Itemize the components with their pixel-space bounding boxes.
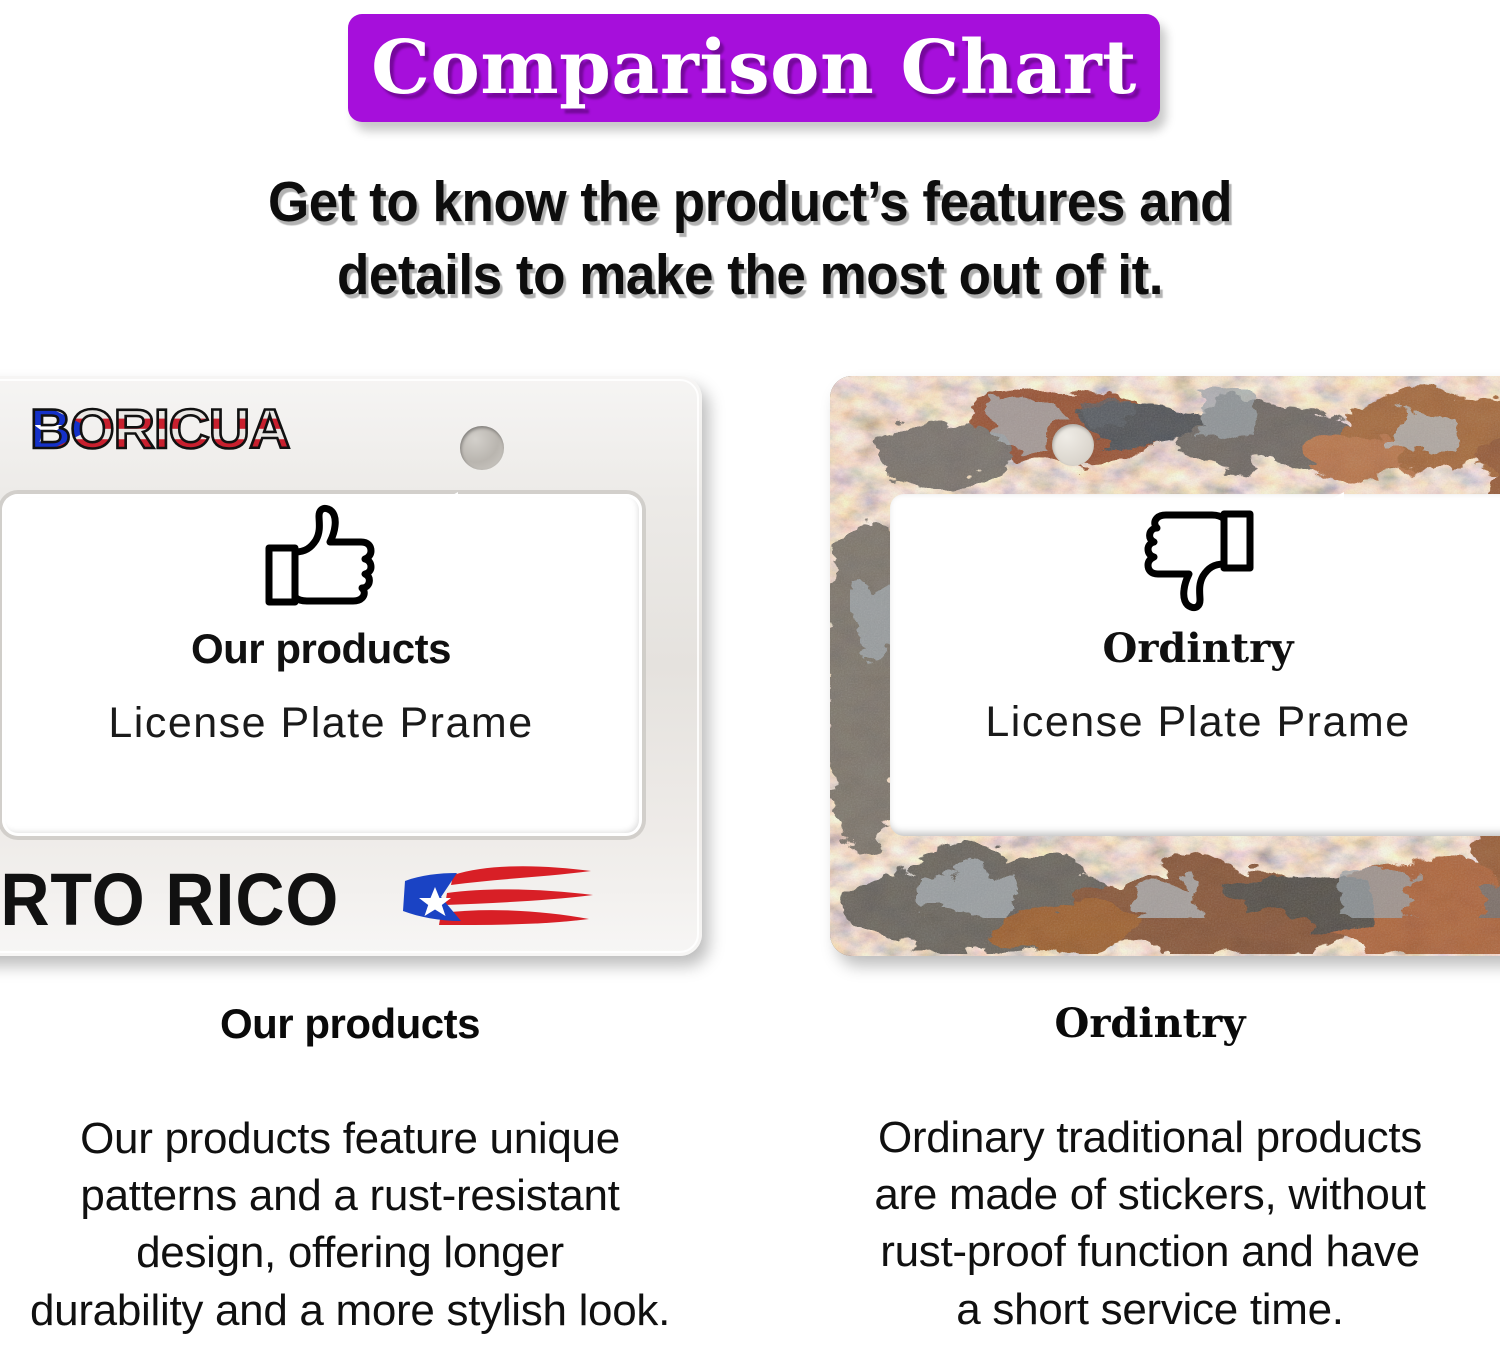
- our-product-frame: BORICUA BORICUA: [0, 376, 702, 956]
- comparison-heading-ordintry: Ordintry: [790, 1000, 1500, 1047]
- puerto-rico-text: ERTO RICO: [0, 857, 339, 942]
- subtitle-line-2: details to make the most out of it.: [164, 239, 1336, 312]
- comparison-body-line: are made of stickers, without: [790, 1166, 1500, 1223]
- comparison-body-ordintry: Ordinary traditional products are made o…: [790, 1109, 1500, 1338]
- our-product-name: License Plate Prame: [108, 699, 533, 748]
- comparison-body-line: patterns and a rust-resistant: [0, 1167, 710, 1224]
- ordinary-product-content: Ordintry License Plate Prame: [830, 504, 1500, 747]
- comparison-body-line: Our products feature unique: [0, 1110, 710, 1167]
- thumbs-up-icon: [261, 504, 381, 617]
- our-product-content: Our products License Plate Prame: [0, 504, 702, 748]
- product-panels: BORICUA BORICUA: [0, 376, 1500, 976]
- comparison-body-line: a short service time.: [790, 1281, 1500, 1338]
- boricua-wordmark: BORICUA BORICUA: [30, 398, 310, 460]
- mounting-hole-icon: [460, 426, 504, 470]
- ordinary-product-name: License Plate Prame: [985, 698, 1410, 747]
- svg-text:BORICUA: BORICUA: [30, 398, 290, 460]
- comparison-body-line: rust-proof function and have: [790, 1223, 1500, 1280]
- subtitle: Get to know the product’s features and d…: [164, 166, 1336, 312]
- our-product-brand: Our products: [191, 625, 451, 673]
- puerto-rico-flag-brush-icon: [395, 857, 595, 942]
- thumbs-down-icon: [1138, 504, 1258, 617]
- comparison-body-line: design, offering longer: [0, 1224, 710, 1281]
- subtitle-line-1: Get to know the product’s features and: [164, 166, 1336, 239]
- comparison-column-ordintry: Ordintry Ordinary traditional products a…: [790, 1000, 1500, 1338]
- ordinary-product-brand: Ordintry: [1103, 625, 1294, 672]
- comparison-heading-ours: Our products: [0, 1000, 710, 1048]
- mounting-hole-icon: [1052, 424, 1094, 466]
- puerto-rico-bottom-rail: ERTO RICO: [0, 854, 702, 944]
- comparison-chart-page: Comparison Chart Get to know the product…: [0, 0, 1500, 1364]
- title-banner: Comparison Chart: [348, 14, 1160, 122]
- comparison-body-line: durability and a more stylish look.: [0, 1282, 710, 1339]
- comparison-body-line: Ordinary traditional products: [790, 1109, 1500, 1166]
- page-title: Comparison Chart: [371, 25, 1137, 111]
- ordinary-product-frame: Ordintry License Plate Prame: [830, 376, 1500, 956]
- comparison-column-ours: Our products Our products feature unique…: [0, 1000, 710, 1339]
- comparison-body-ours: Our products feature unique patterns and…: [0, 1110, 710, 1339]
